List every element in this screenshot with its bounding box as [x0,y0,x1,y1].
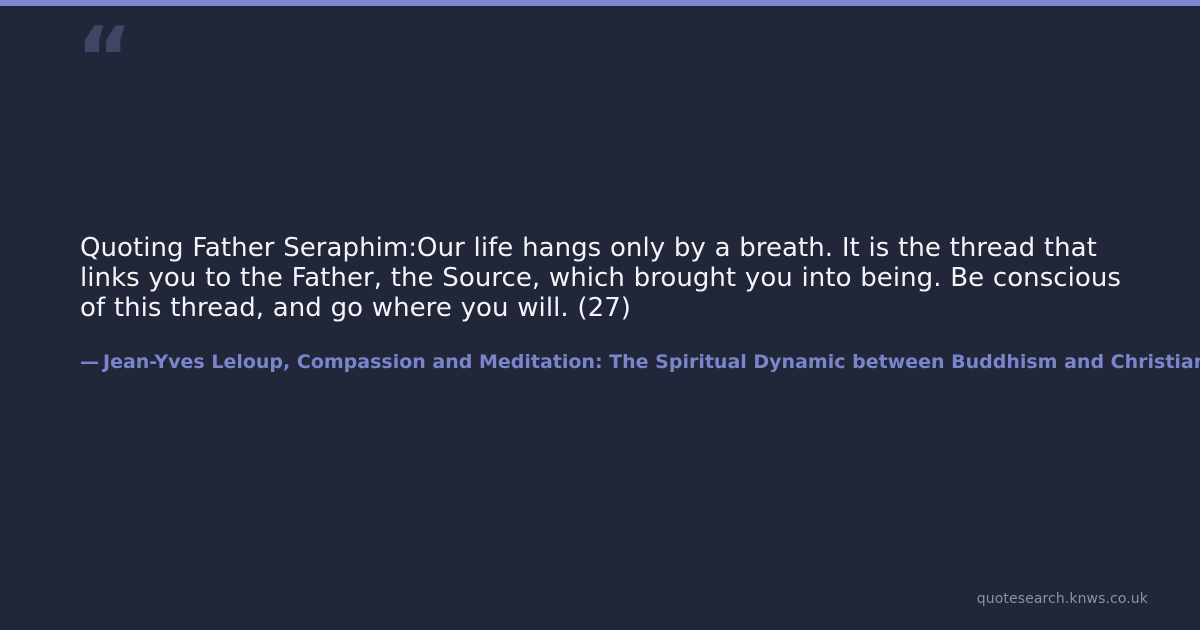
quote-body: Quoting Father Seraphim:Our life hangs o… [80,233,1140,323]
quote-text: Quoting Father Seraphim:Our life hangs o… [80,233,1140,323]
top-accent-bar [0,0,1200,6]
attribution-text: Jean-Yves Leloup, Compassion and Meditat… [103,351,1200,373]
attribution-row: —Jean-Yves Leloup, Compassion and Medita… [80,348,1200,376]
site-watermark: quotesearch.knws.co.uk [977,590,1148,608]
attribution: —Jean-Yves Leloup, Compassion and Medita… [80,351,1200,373]
quotation-mark-icon: “ [76,16,131,102]
attribution-dash: — [80,351,99,373]
quote-card: “ Quoting Father Seraphim:Our life hangs… [0,0,1200,630]
